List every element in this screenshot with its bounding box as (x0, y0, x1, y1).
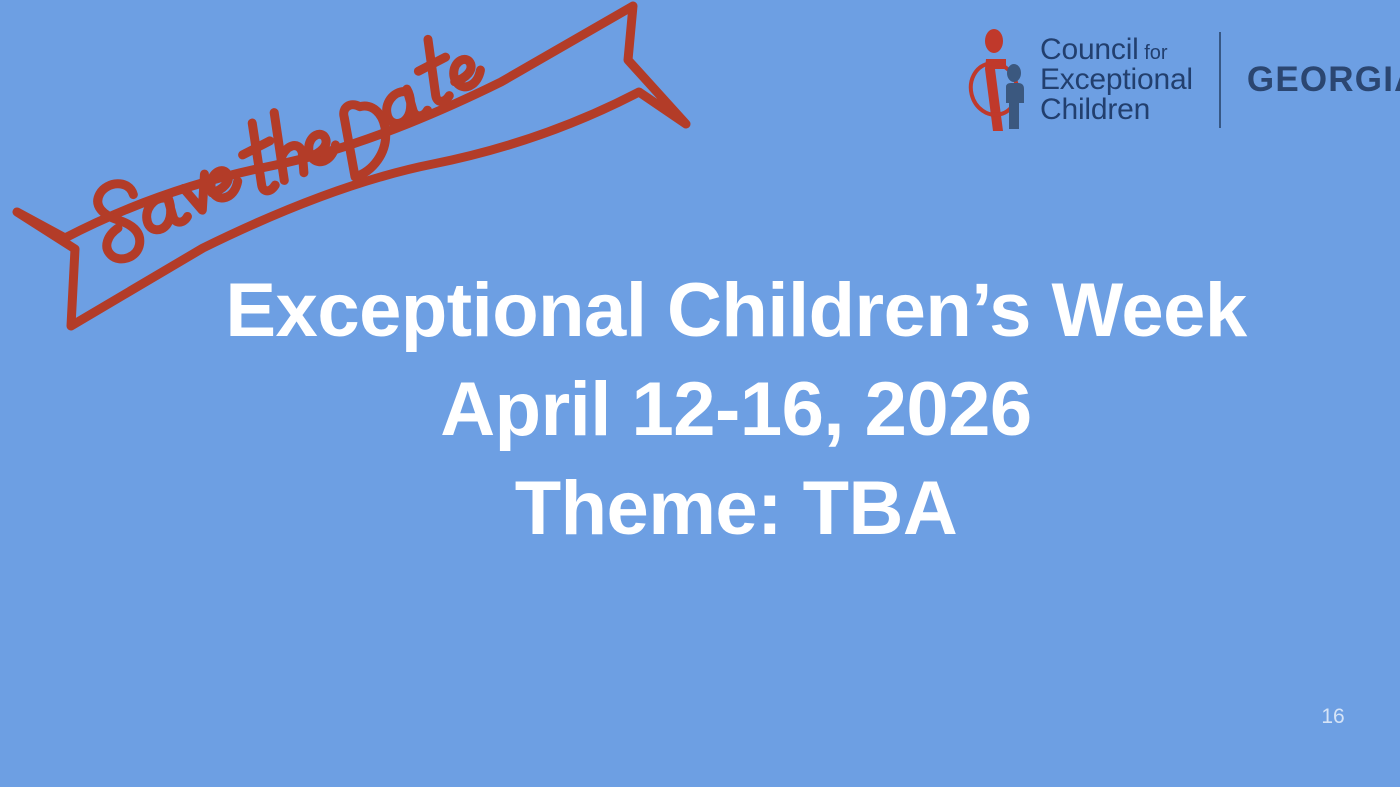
georgia-wordmark: GEORGIA (1247, 60, 1400, 100)
logo-divider (1219, 32, 1221, 128)
cec-logo-mark-icon (968, 27, 1030, 133)
cec-wordmark-line-1: Council for (1040, 35, 1193, 65)
event-theme: Theme: TBA (0, 460, 1400, 559)
cec-figures-icon (968, 27, 1030, 133)
cec-wordmark-for: for (1139, 42, 1168, 64)
page-number: 16 (1318, 705, 1348, 729)
event-title: Exceptional Children’s Week (0, 262, 1400, 361)
cec-wordmark-line-2: Exceptional (1040, 65, 1193, 95)
ribbon-script-lettering (76, 28, 503, 263)
event-dates: April 12-16, 2026 (0, 361, 1400, 460)
slide-canvas: Council for Exceptional Children GEORGIA… (0, 0, 1400, 787)
headline-block: Exceptional Children’s Week April 12-16,… (0, 262, 1400, 558)
cec-wordmark-council: Council (1040, 33, 1139, 66)
cec-wordmark-line-3: Children (1040, 95, 1193, 125)
cec-wordmark: Council for Exceptional Children (1040, 35, 1193, 124)
cec-georgia-logo: Council for Exceptional Children GEORGIA (968, 24, 1380, 136)
